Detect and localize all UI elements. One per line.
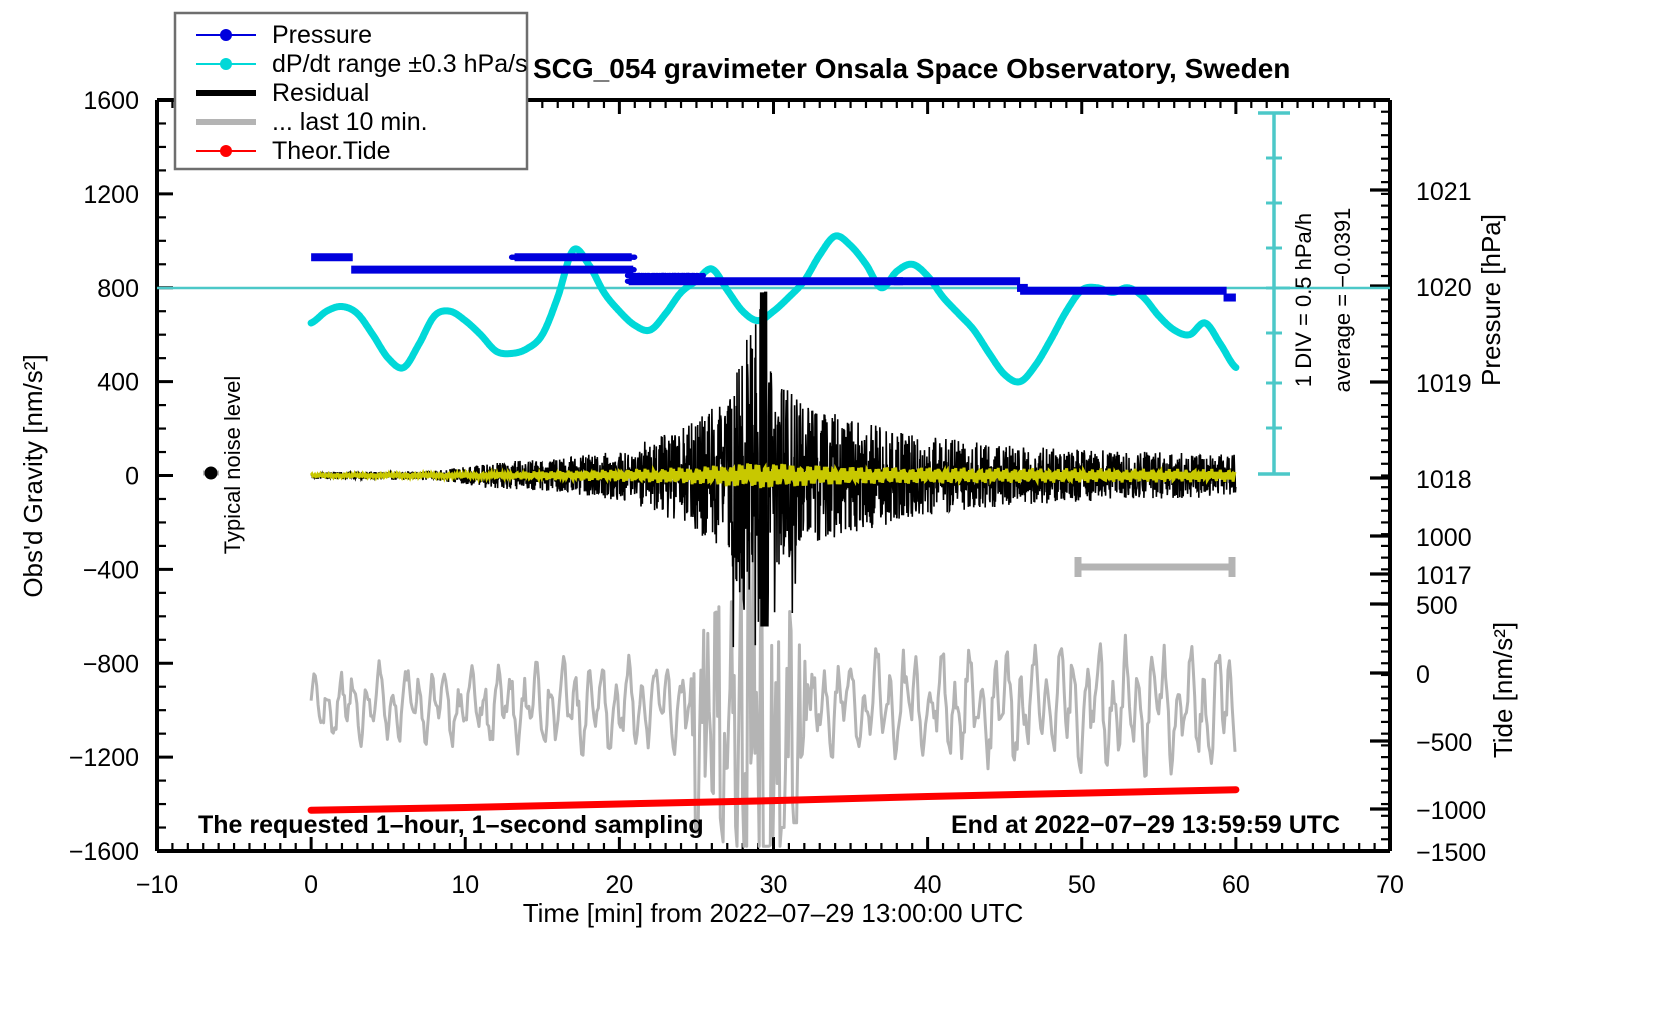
y-left-tick-label: 0 [125,463,139,491]
x-tick-label: 60 [1222,871,1250,899]
y-axis-right-pressure-title: Pressure [hPa] [1476,214,1506,386]
pressure-point [632,279,637,284]
pressure-point [608,255,613,260]
div-scale-label: 1 DIV = 0.5 hPa/h [1291,213,1316,387]
y-right-tide-tick-label: −500 [1416,729,1472,757]
y-right-tide-tick-label: −1000 [1416,797,1486,825]
pressure-point [553,267,558,272]
pressure-point [639,273,644,278]
pressure-point [617,267,622,272]
pressure-point [625,273,630,278]
legend-item-label: dP/dt range ±0.3 hPa/s [272,50,528,78]
pressure-point [597,255,602,260]
average-label: average = −0.0391 [1330,208,1355,393]
pressure-point [563,267,568,272]
pressure-point [586,255,591,260]
pressure-point [512,255,517,260]
end-time-note: End at 2022−07−29 13:59:59 UTC [951,811,1340,839]
pressure-point [530,267,535,272]
pressure-point [603,267,608,272]
pressure-point [613,267,618,272]
pressure-point [615,255,620,260]
pressure-point [565,255,570,260]
y-right-pressure-tick-label: 1019 [1416,370,1472,398]
pressure-point [522,267,527,272]
y-axis-right-tide-title: Tide [nm/s²] [1488,622,1518,758]
y-left-tick-label: 800 [97,275,139,303]
x-tick-label: 70 [1376,871,1404,899]
pressure-point [592,255,597,260]
x-tick-label: −10 [136,871,178,899]
y-right-tide-tick-label: 1000 [1416,524,1472,552]
legend-item-label: Theor.Tide [272,137,391,165]
pressure-point [666,279,671,284]
y-right-tide-tick-label: −1500 [1416,839,1486,867]
pressure-point [542,255,547,260]
x-tick-label: 30 [760,871,788,899]
legend-item-label: Pressure [272,21,372,49]
pressure-point [696,273,701,278]
x-axis-title: Time [min] from 2022–07–29 13:00:00 UTC [523,898,1024,928]
legend-item-label: ... last 10 min. [272,108,428,136]
pressure-point [623,267,628,272]
pressure-point [608,267,613,272]
pressure-point [646,273,651,278]
pressure-point [517,255,522,260]
pressure-point [680,273,685,278]
x-tick-label: 20 [605,871,633,899]
y-right-tide-tick-label: 0 [1416,661,1430,689]
pressure-point [554,255,559,260]
plot-canvas: −10010203040506070 160012008004000−400−8… [0,0,1676,1020]
y-left-tick-label: −1200 [69,744,139,772]
y-left-tick-label: −800 [83,650,139,678]
pressure-point [510,267,515,272]
y-right-pressure-tick-label: 1021 [1416,178,1472,206]
x-tick-label: 40 [914,871,942,899]
pressure-point [572,267,577,272]
y-left-tick-label: −400 [83,556,139,584]
sampling-note: The requested 1–hour, 1–second sampling [198,811,704,839]
pressure-point [581,267,586,272]
pressure-point [686,273,691,278]
y-left-tick-label: 1600 [83,87,139,115]
pressure-point [528,255,533,260]
pressure-point [621,255,626,260]
legend-item-label: Residual [272,79,369,107]
pressure-point [640,279,645,284]
x-tick-label: 50 [1068,871,1096,899]
page-title: SCG_054 gravimeter Onsala Space Observat… [533,53,1290,84]
y-right-pressure-tick-label: 1020 [1416,274,1472,302]
legend[interactable]: PressuredP/dt range ±0.3 hPa/sResidual..… [175,13,528,169]
typical-noise-level-label: Typical noise level [220,376,245,555]
pressure-point [628,279,633,284]
pressure-point [658,279,663,284]
y-left-tick-label: −1600 [69,838,139,866]
y-axis-left-title: Obs'd Gravity [nm/s²] [18,354,48,597]
y-right-pressure-tick-label: 1018 [1416,466,1472,494]
pressure-point [660,273,665,278]
pressure-point [534,255,539,260]
pressure-point [630,255,635,260]
x-tick-label: 10 [451,871,479,899]
y-left-tick-label: 1200 [83,181,139,209]
gravimeter-plot-figure: −10010203040506070 160012008004000−400−8… [0,0,1676,1020]
pressure-point [574,255,579,260]
pressure-point [546,267,551,272]
y-left-tick-label: 400 [97,369,139,397]
pressure-point [651,279,656,284]
y-right-pressure-tick-label: 1017 [1416,562,1472,590]
pressure-point [539,267,544,272]
pressure-point [591,267,596,272]
pressure-point [690,273,695,278]
pressure-point [677,279,682,284]
y-right-tide-tick-label: 500 [1416,592,1458,620]
pressure-point [647,279,652,284]
pressure-point [602,255,607,260]
x-tick-label: 0 [304,871,318,899]
pressure-point [694,279,699,284]
